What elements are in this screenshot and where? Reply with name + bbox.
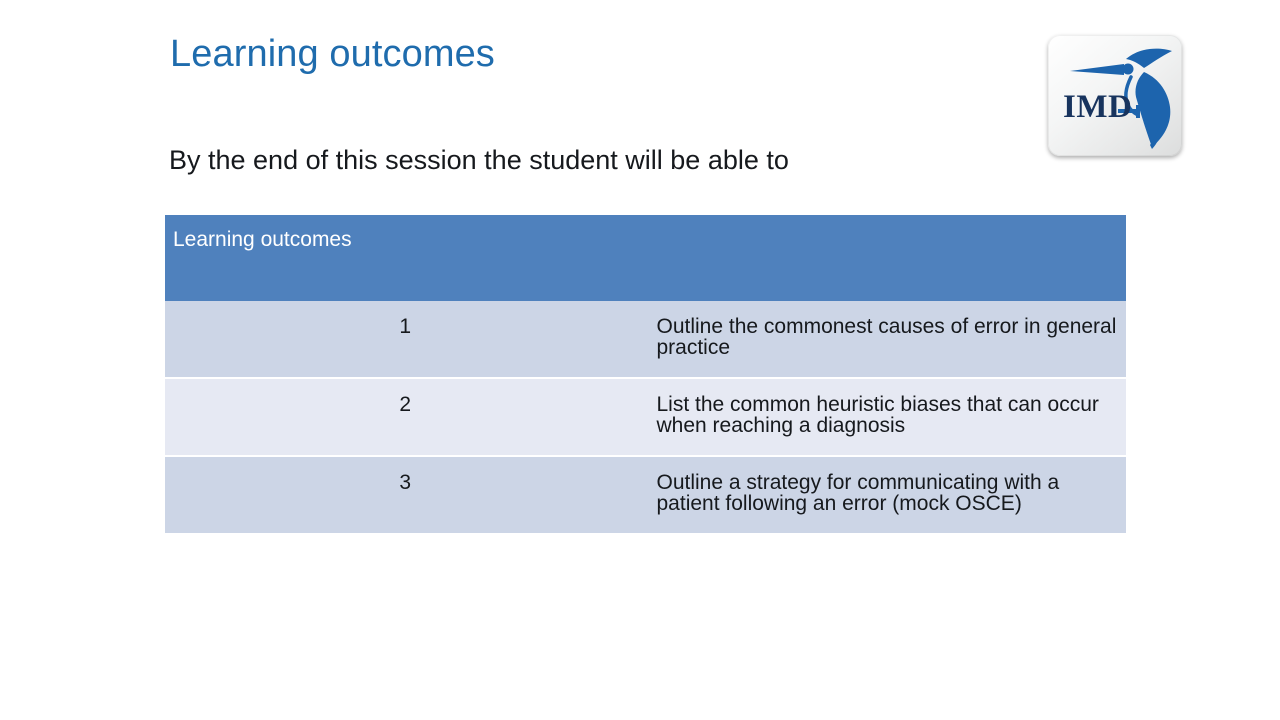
table-row: 3 Outline a strategy for communicating w… (165, 457, 1126, 533)
imd-logo-text: IMD (1063, 89, 1132, 125)
table-header-label: Learning outcomes (165, 215, 1126, 301)
table-row: 2 List the common heuristic biases that … (165, 379, 1126, 455)
imd-logo: IMD (1048, 35, 1182, 156)
slide-lead-in-text: By the end of this session the student w… (169, 141, 789, 179)
slide-canvas: Learning outcomes By the end of this ses… (0, 0, 1280, 720)
outcome-number: 2 (165, 379, 646, 455)
outcome-number: 1 (165, 301, 646, 377)
outcome-text: Outline the commonest causes of error in… (646, 301, 1127, 377)
imd-logo-graphic: IMD (1048, 35, 1182, 156)
table-header-row: Learning outcomes (165, 215, 1126, 301)
learning-outcomes-table: Learning outcomes 1 Outline the commones… (165, 215, 1126, 533)
outcome-number: 3 (165, 457, 646, 533)
table-row: 1 Outline the commonest causes of error … (165, 301, 1126, 377)
outcome-text: List the common heuristic biases that ca… (646, 379, 1127, 455)
page-title: Learning outcomes (170, 28, 495, 80)
outcome-text: Outline a strategy for communicating wit… (646, 457, 1127, 533)
